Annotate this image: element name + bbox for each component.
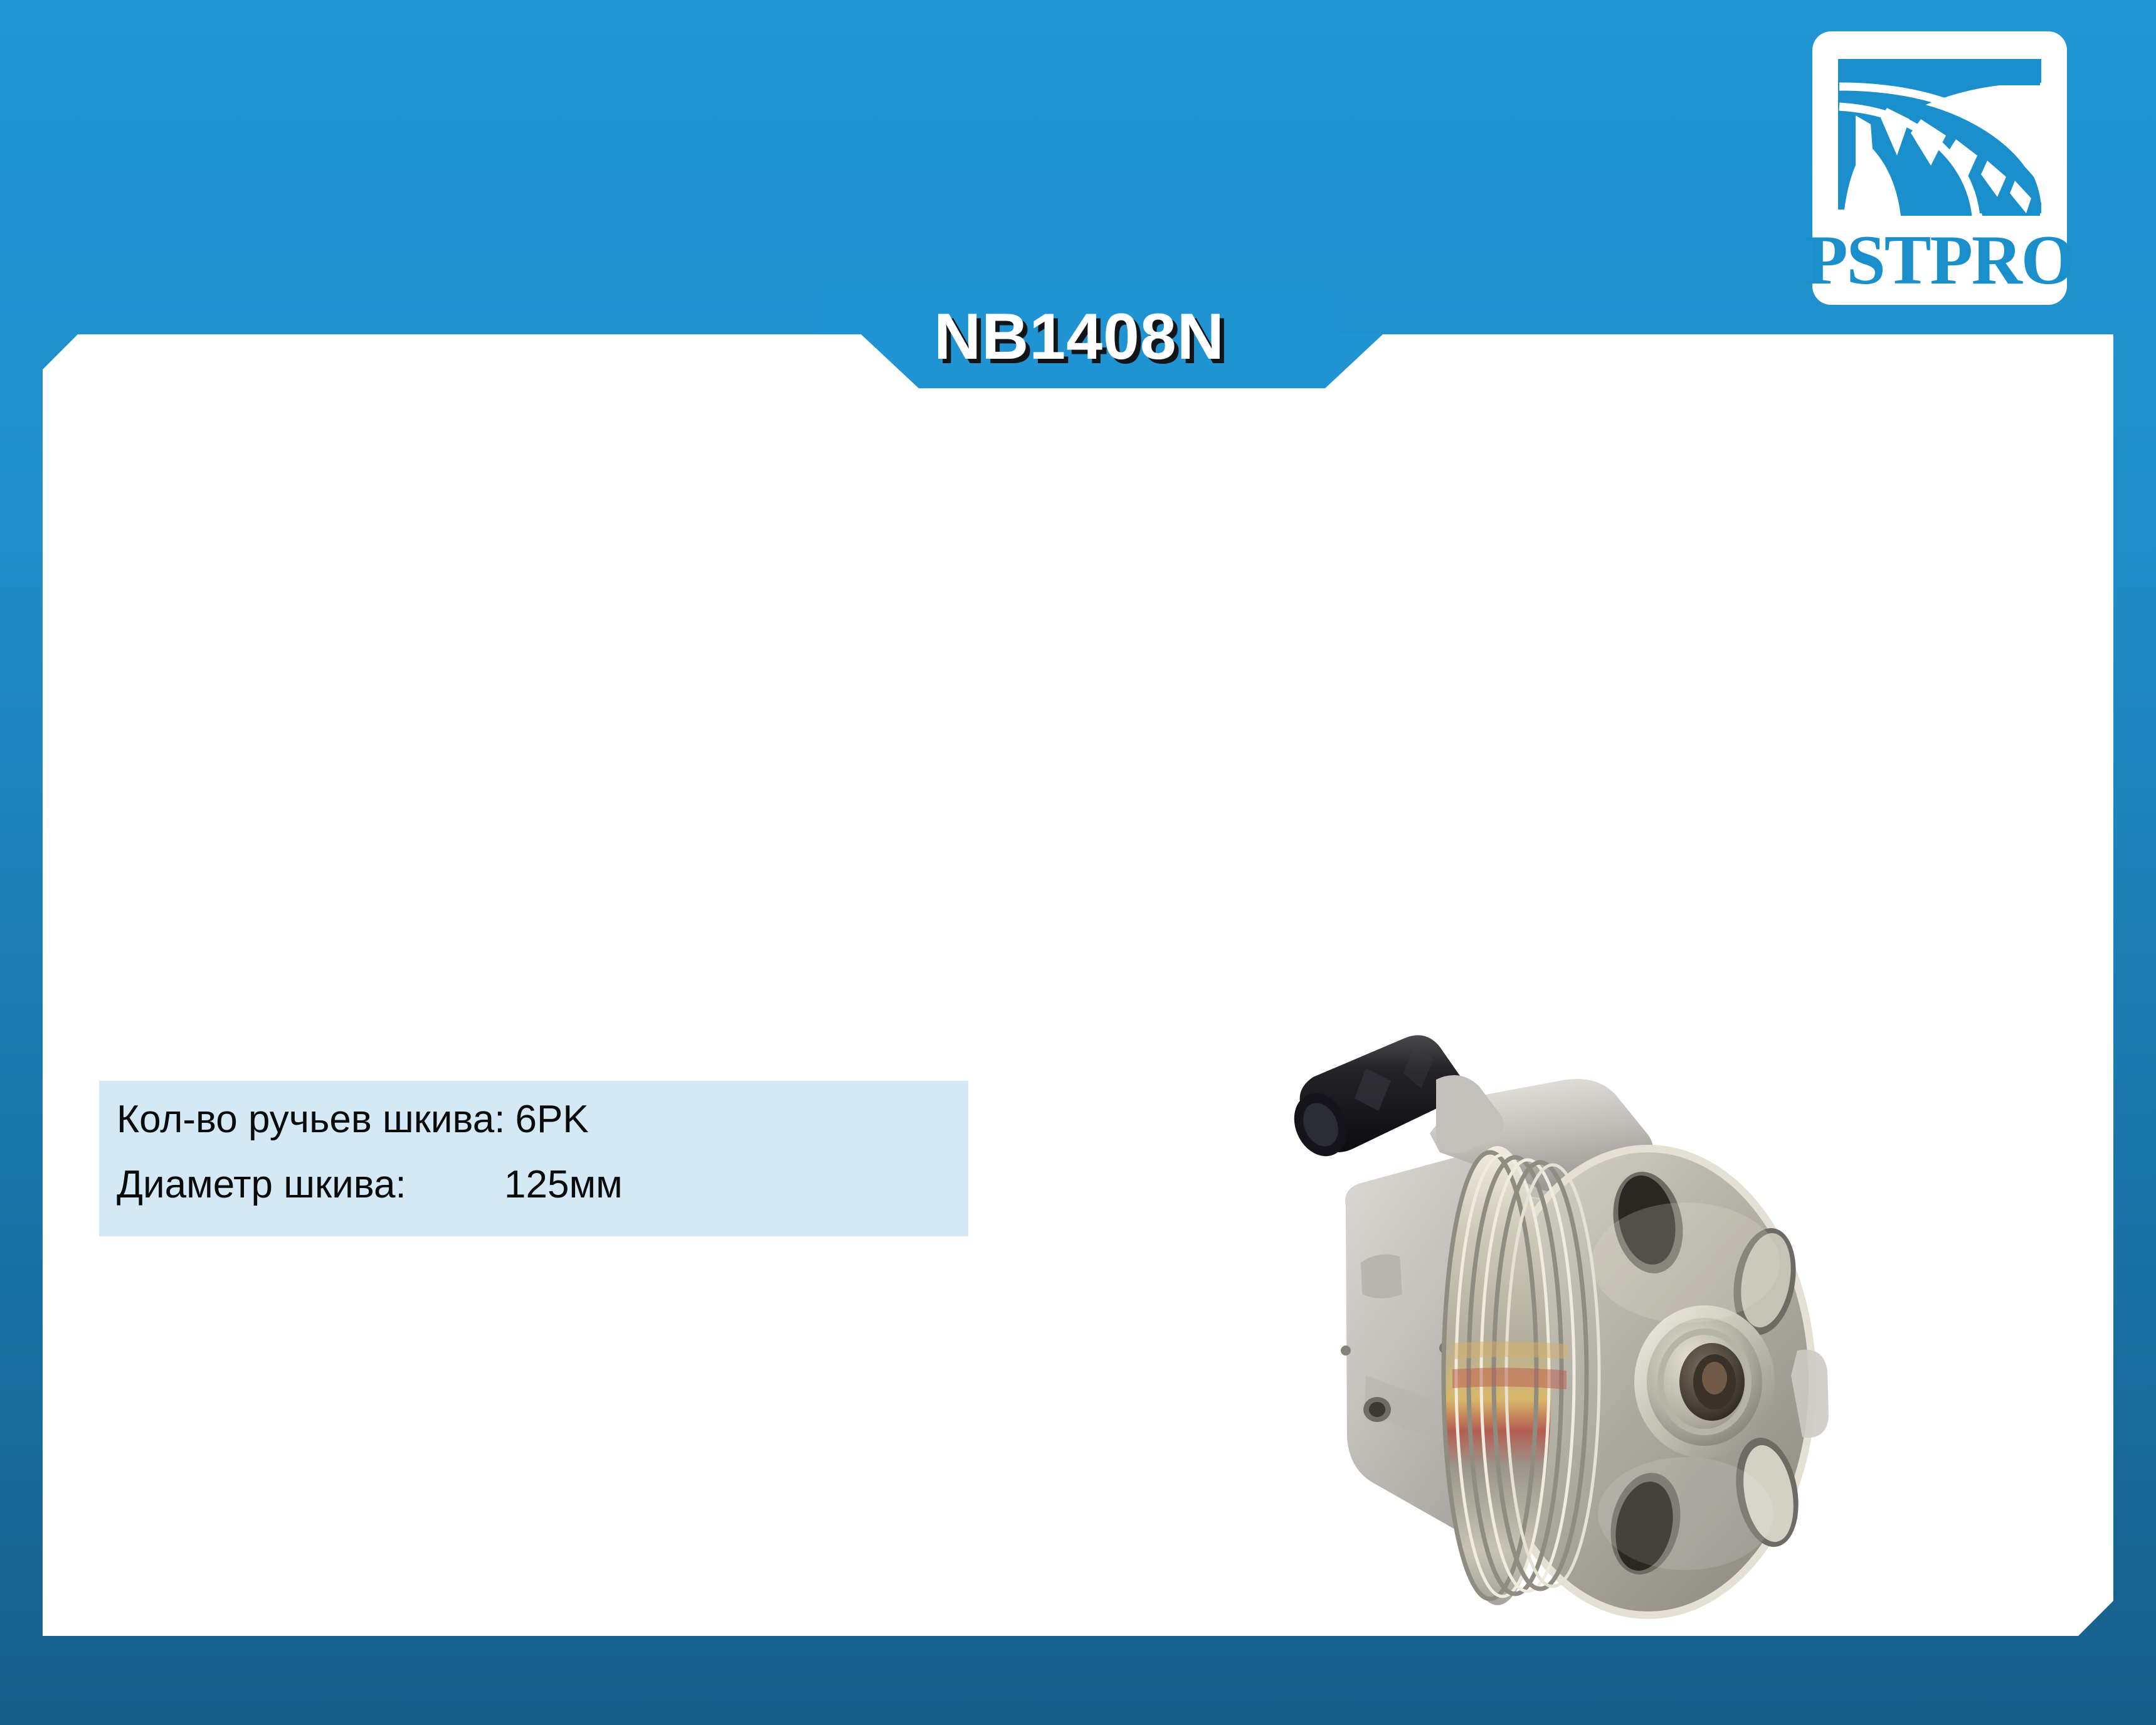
- inlet-hose-fitting: [1284, 1035, 1462, 1164]
- brand-name: PSTPRO: [1805, 227, 2074, 294]
- title-banner-upper: [818, 285, 1340, 336]
- drive-pulley: [1444, 1146, 1812, 1615]
- brand-logo: PSTPRO: [1812, 31, 2067, 305]
- product-card: Кол-во ручьев шкива: 6PK Диаметр шкива: …: [43, 334, 2113, 1636]
- road-bridge-icon: [1827, 45, 2053, 227]
- spec-label-pulley-grooves: Кол-во ручьев шкива:: [117, 1097, 505, 1142]
- specifications-panel: Кол-во ручьев шкива: 6PK Диаметр шкива: …: [99, 1081, 968, 1236]
- spec-row: Диаметр шкива: 125мм: [117, 1162, 968, 1228]
- spec-row: Кол-во ручьев шкива: 6PK: [117, 1097, 968, 1162]
- spec-value-pulley-grooves: 6PK: [515, 1097, 589, 1142]
- spec-label-pulley-diameter: Диаметр шкива:: [117, 1162, 504, 1207]
- pulley-hub: [1634, 1305, 1775, 1458]
- product-image: [1272, 999, 1836, 1627]
- title-banner-lower: [861, 334, 1383, 388]
- spec-value-pulley-diameter: 125мм: [504, 1162, 623, 1207]
- power-steering-pump-photo: [1272, 999, 1836, 1627]
